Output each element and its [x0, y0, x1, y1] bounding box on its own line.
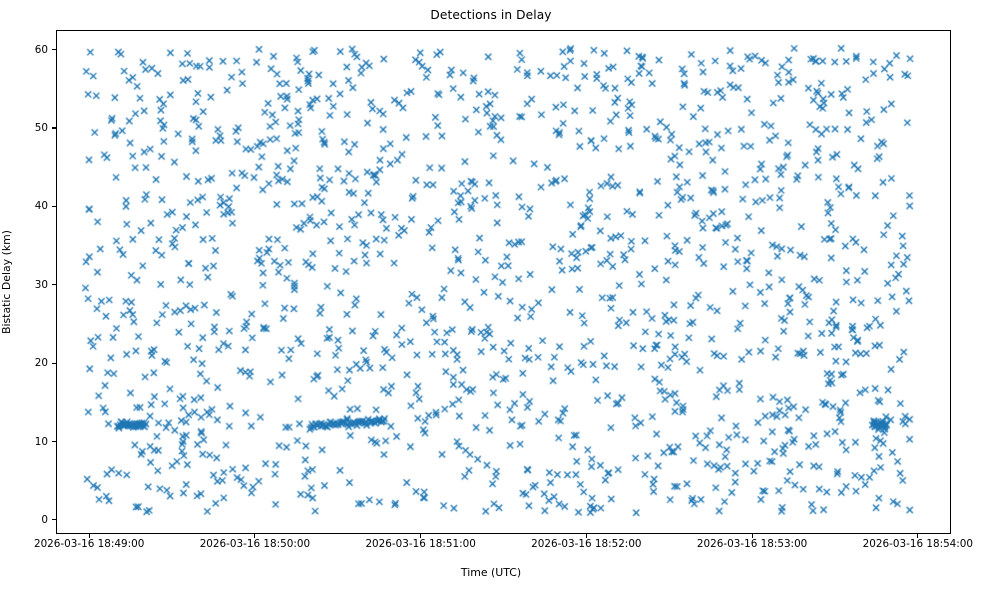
- y-tick-mark: [52, 284, 56, 285]
- x-tick-mark: [586, 534, 587, 538]
- y-tick-label: 20: [0, 357, 48, 369]
- y-tick-label: 50: [0, 122, 48, 134]
- x-tick-mark: [752, 534, 753, 538]
- y-tick-label: 10: [0, 436, 48, 448]
- x-tick-label: 2026-03-16 18:53:00: [697, 538, 807, 550]
- x-tick-label: 2026-03-16 18:54:00: [863, 538, 973, 550]
- x-tick-label: 2026-03-16 18:52:00: [531, 538, 641, 550]
- y-tick-label: 40: [0, 200, 48, 212]
- y-tick-mark: [52, 519, 56, 520]
- x-tick-label: 2026-03-16 18:49:00: [34, 538, 144, 550]
- x-tick-mark: [917, 534, 918, 538]
- plot-area: [56, 30, 951, 534]
- figure-canvas: Detections in Delay 0102030405060 2026-0…: [0, 0, 982, 590]
- y-tick-label: 0: [0, 514, 48, 526]
- y-tick-mark: [52, 363, 56, 364]
- y-tick-mark: [52, 49, 56, 50]
- y-axis-label: Bistatic Delay (km): [0, 230, 13, 334]
- x-tick-mark: [89, 534, 90, 538]
- scatter-plot-canvas: [57, 31, 950, 533]
- y-tick-label: 60: [0, 44, 48, 56]
- y-tick-mark: [52, 206, 56, 207]
- x-tick-mark: [420, 534, 421, 538]
- y-tick-mark: [52, 127, 56, 128]
- x-tick-label: 2026-03-16 18:50:00: [200, 538, 310, 550]
- chart-title: Detections in Delay: [0, 8, 982, 22]
- x-axis-label: Time (UTC): [0, 566, 982, 579]
- x-tick-label: 2026-03-16 18:51:00: [365, 538, 475, 550]
- x-tick-mark: [254, 534, 255, 538]
- y-tick-mark: [52, 441, 56, 442]
